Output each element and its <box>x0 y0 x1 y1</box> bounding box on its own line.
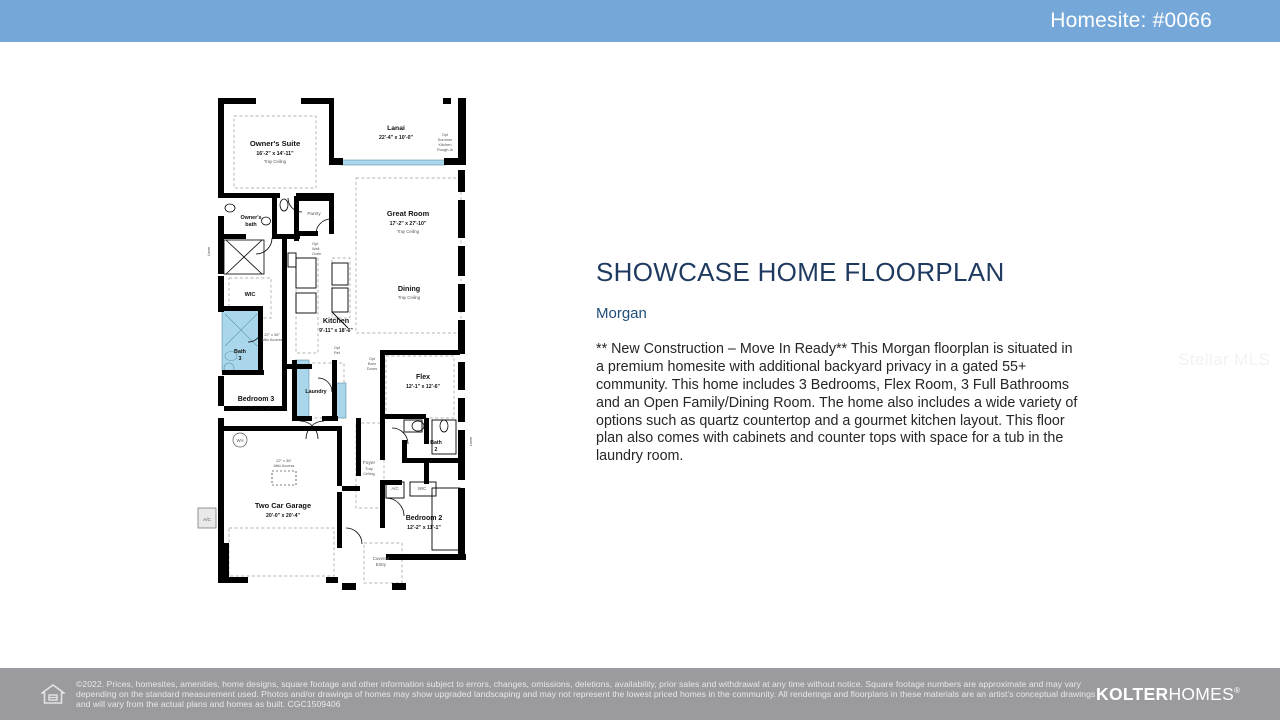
svg-text:Entry: Entry <box>376 562 387 567</box>
label-bedroom-2: Bedroom 2 <box>406 515 443 522</box>
label-owners-suite-note: Tray Ceiling <box>264 159 287 164</box>
label-bedroom-3-dims: 11'-1" x 11'-4" <box>239 406 273 412</box>
exterior-ac-unit: A/C <box>198 508 216 528</box>
listing-info-panel: SHOWCASE HOME FLOORPLAN Morgan ** New Co… <box>596 258 1081 466</box>
svg-text:Doors: Doors <box>367 366 377 371</box>
brand-name-secondary: HOMES <box>1168 684 1234 704</box>
label-kitchen: Kitchen <box>323 316 349 325</box>
label-ac-closet: A/C <box>391 486 398 491</box>
label-linen-left: Linen <box>207 247 211 256</box>
label-bath-2: Bath <box>430 440 442 446</box>
equal-housing-opportunity-icon <box>40 681 66 707</box>
svg-text:Ceiling: Ceiling <box>363 472 375 476</box>
svg-text:Tray: Tray <box>365 467 373 471</box>
label-owners-suite-dims: 16'-2" x 14'-11" <box>256 151 294 157</box>
label-flex: Flex <box>416 374 430 381</box>
floorplan-svg: A/C WH Owner's Suite 16'-2" x 14'-11" Tr… <box>196 88 496 593</box>
label-linen-right: Linen <box>469 437 473 446</box>
footer-bar: ©2022. Prices, homesites, amenities, hom… <box>0 668 1280 720</box>
svg-text:Rough-In: Rough-In <box>437 147 453 152</box>
floorplan-image: A/C WH Owner's Suite 16'-2" x 14'-11" Tr… <box>196 88 496 593</box>
label-covered-entry: Covered <box>373 556 390 561</box>
label-pantry: Pantry <box>307 211 321 216</box>
label-wic-main: WIC <box>245 292 256 298</box>
label-bedroom-2-dims: 12'-2" x 11'-1" <box>407 525 441 531</box>
svg-text:Attic Access: Attic Access <box>262 337 283 342</box>
brand-name-primary: KOLTER <box>1096 684 1168 704</box>
label-garage-dims: 20'-0" x 20'-4" <box>266 513 300 519</box>
label-laundry: Laundry <box>305 389 326 395</box>
label-bedroom-3: Bedroom 3 <box>238 396 275 403</box>
label-lanai: Lanai <box>387 125 405 132</box>
label-owners-bath: Owner's <box>240 215 261 221</box>
wh-label: WH <box>237 438 244 443</box>
plan-name: Morgan <box>596 305 1081 322</box>
listing-description: ** New Construction – Move In Ready** Th… <box>596 341 1081 466</box>
homesite-number: Homesite: #0066 <box>1050 9 1280 33</box>
svg-text:Ref: Ref <box>334 350 341 355</box>
kolter-homes-logo: KOLTERHOMES® <box>1096 684 1240 705</box>
label-great-room-dims: 17'-2" x 27'-10" <box>390 221 427 227</box>
bath3-accent <box>222 310 260 372</box>
registered-trademark-symbol: ® <box>1234 686 1240 695</box>
label-kitchen-dims: 9'-11" x 18'-6" <box>319 328 353 334</box>
svg-text:2: 2 <box>435 447 438 453</box>
page-title: SHOWCASE HOME FLOORPLAN <box>596 258 1081 288</box>
label-wic-bed2: WIC <box>418 486 427 491</box>
label-foyer: Foyer <box>363 460 376 466</box>
label-dining-note: Tray Ceiling <box>398 295 421 300</box>
label-owners-suite: Owner's Suite <box>250 139 300 148</box>
svg-text:3: 3 <box>239 356 242 362</box>
water-heater-marker: WH <box>233 433 247 447</box>
label-dining: Dining <box>398 284 420 293</box>
label-great-room: Great Room <box>387 209 430 218</box>
label-bath-3: Bath <box>234 349 246 355</box>
label-flex-dims: 12'-1" x 12'-6" <box>406 384 440 390</box>
ac-exterior-label: A/C <box>203 517 211 522</box>
svg-text:Oven: Oven <box>312 251 321 256</box>
header-bar: Homesite: #0066 <box>0 0 1280 42</box>
mls-watermark: Stellar MLS <box>1178 350 1270 370</box>
label-great-room-note: Tray Ceiling <box>397 229 420 234</box>
legal-disclaimer: ©2022. Prices, homesites, amenities, hom… <box>76 679 1096 710</box>
label-two-car-garage: Two Car Garage <box>255 501 311 510</box>
label-lanai-dims: 22'-4" x 10'-0" <box>379 135 413 141</box>
svg-text:bath: bath <box>245 222 256 228</box>
svg-text:Attic Access: Attic Access <box>274 463 295 468</box>
sliding-door-accent <box>341 160 446 165</box>
